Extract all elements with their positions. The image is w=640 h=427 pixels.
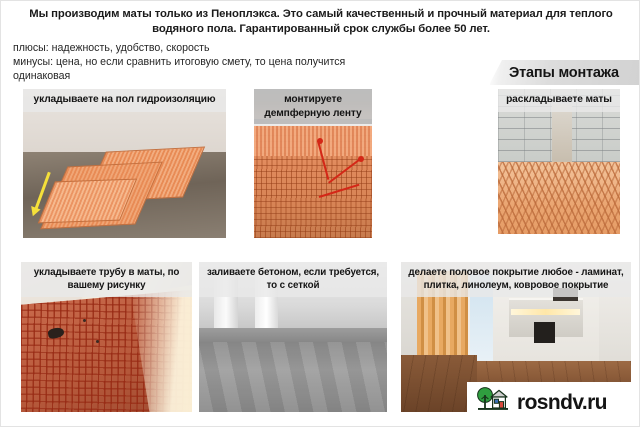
mat-far-rows xyxy=(254,126,372,156)
section-banner: Этапы монтажа xyxy=(490,60,640,85)
pros-line: плюсы: надежность, удобство, скорость xyxy=(13,41,210,55)
watermark-text: rosndv.ru xyxy=(517,392,607,413)
step-card-5[interactable]: заливаете бетоном, если требуется, то с … xyxy=(199,262,387,412)
slide-root: Мы производим маты только из Пеноплэкса.… xyxy=(0,0,640,427)
fireplace-insert xyxy=(534,322,555,343)
cons-line: минусы: цена, но если сравнить итоговую … xyxy=(13,55,345,69)
mat-floor-surface xyxy=(498,162,620,235)
step-caption-3: раскладываете маты xyxy=(498,89,620,112)
step-card-3[interactable]: раскладываете маты xyxy=(498,89,620,234)
step-card-1[interactable]: укладываете на пол гидроизоляцию xyxy=(23,89,226,238)
watermark: rosndv.ru xyxy=(467,382,635,422)
step-caption-2: монтируете демпферную ленту xyxy=(254,89,372,125)
led-light-strip xyxy=(511,309,580,315)
step-card-4[interactable]: укладываете трубу в маты, по вашему рису… xyxy=(21,262,192,412)
house-tree-logo-icon xyxy=(475,386,511,419)
step-card-2[interactable]: монтируете демпферную ленту xyxy=(254,89,372,238)
debris-dot-1 xyxy=(83,319,86,322)
concrete-floor-surface xyxy=(199,342,387,413)
cons-line-continued: одинаковая xyxy=(13,69,70,83)
step-caption-1: укладываете на пол гидроизоляцию xyxy=(23,89,226,112)
laminate-floor-left xyxy=(401,355,477,412)
page-title: Мы производим маты только из Пеноплэкса.… xyxy=(19,7,623,37)
step-caption-6: делаете половое покрытие любое - ламинат… xyxy=(401,262,631,297)
section-banner-label: Этапы монтажа xyxy=(490,65,619,81)
step-caption-4: укладываете трубу в маты, по вашему рису… xyxy=(21,262,192,297)
step-caption-5: заливаете бетоном, если требуется, то с … xyxy=(199,262,387,297)
